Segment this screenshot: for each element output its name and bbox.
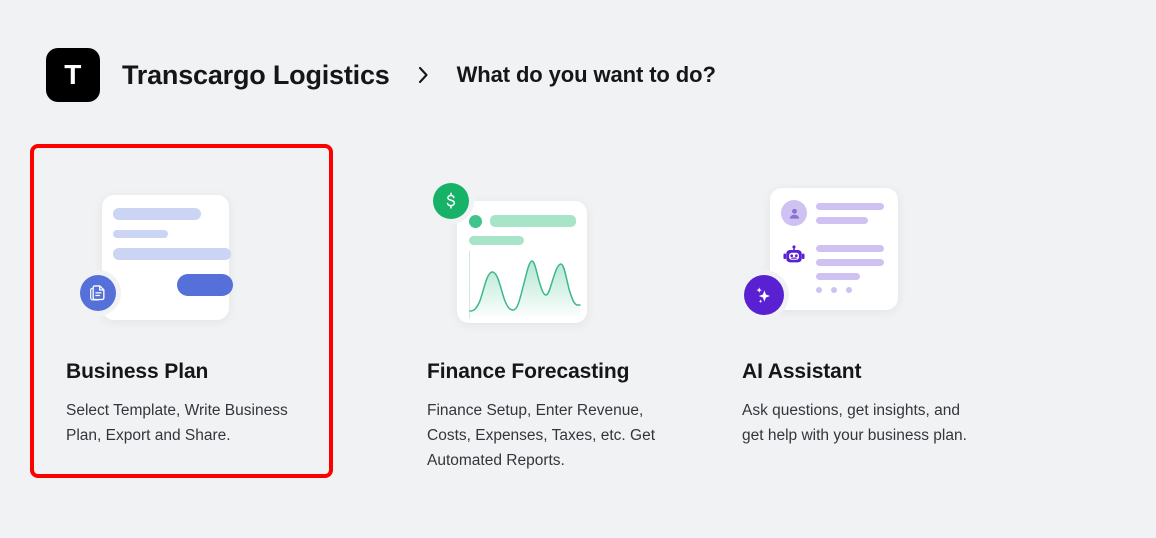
typing-indicator [816,287,852,293]
avatar [781,200,807,226]
breadcrumb-org-name[interactable]: Transcargo Logistics [122,60,390,91]
action-card-list: Business Plan Select Template, Write Bus… [30,144,1014,503]
placeholder-line [113,208,201,220]
document-preview-panel [102,195,229,320]
placeholder-line [816,259,884,266]
chevron-right-icon [418,66,429,84]
sparkles-icon [744,275,784,315]
placeholder-line [113,230,168,238]
robot-icon [781,244,807,270]
ai-assistant-illustration [742,178,980,338]
card-title: AI Assistant [742,360,980,384]
org-logo-tile[interactable]: T [46,48,100,102]
finance-forecasting-illustration [427,178,660,338]
placeholder-line [816,217,868,224]
card-finance-forecasting[interactable]: Finance Forecasting Finance Setup, Enter… [379,144,694,503]
placeholder-button [177,274,233,296]
finance-preview-panel [457,201,587,323]
forecast-area-chart [467,251,583,317]
card-description: Finance Setup, Enter Revenue, Costs, Exp… [427,398,660,473]
breadcrumb-current-step: What do you want to do? [457,62,716,88]
placeholder-line [816,273,860,280]
breadcrumb: T Transcargo Logistics What do you want … [46,48,716,102]
card-business-plan[interactable]: Business Plan Select Template, Write Bus… [30,144,333,478]
app-root: T Transcargo Logistics What do you want … [0,0,1156,538]
status-dot [469,215,482,228]
card-ai-assistant[interactable]: AI Assistant Ask questions, get insights… [694,144,1014,478]
card-title: Finance Forecasting [427,360,660,384]
business-plan-illustration [66,178,299,338]
document-copy-icon [80,275,116,311]
org-logo-letter: T [64,59,82,91]
dollar-sign-icon [433,183,469,219]
placeholder-line [816,245,884,252]
placeholder-line [816,203,884,210]
card-description: Ask questions, get insights, and get hel… [742,398,980,448]
placeholder-line [113,248,231,260]
chat-preview-panel [770,188,898,310]
card-title: Business Plan [66,360,299,384]
card-description: Select Template, Write Business Plan, Ex… [66,398,299,448]
placeholder-line [469,236,524,245]
placeholder-line [490,215,576,227]
